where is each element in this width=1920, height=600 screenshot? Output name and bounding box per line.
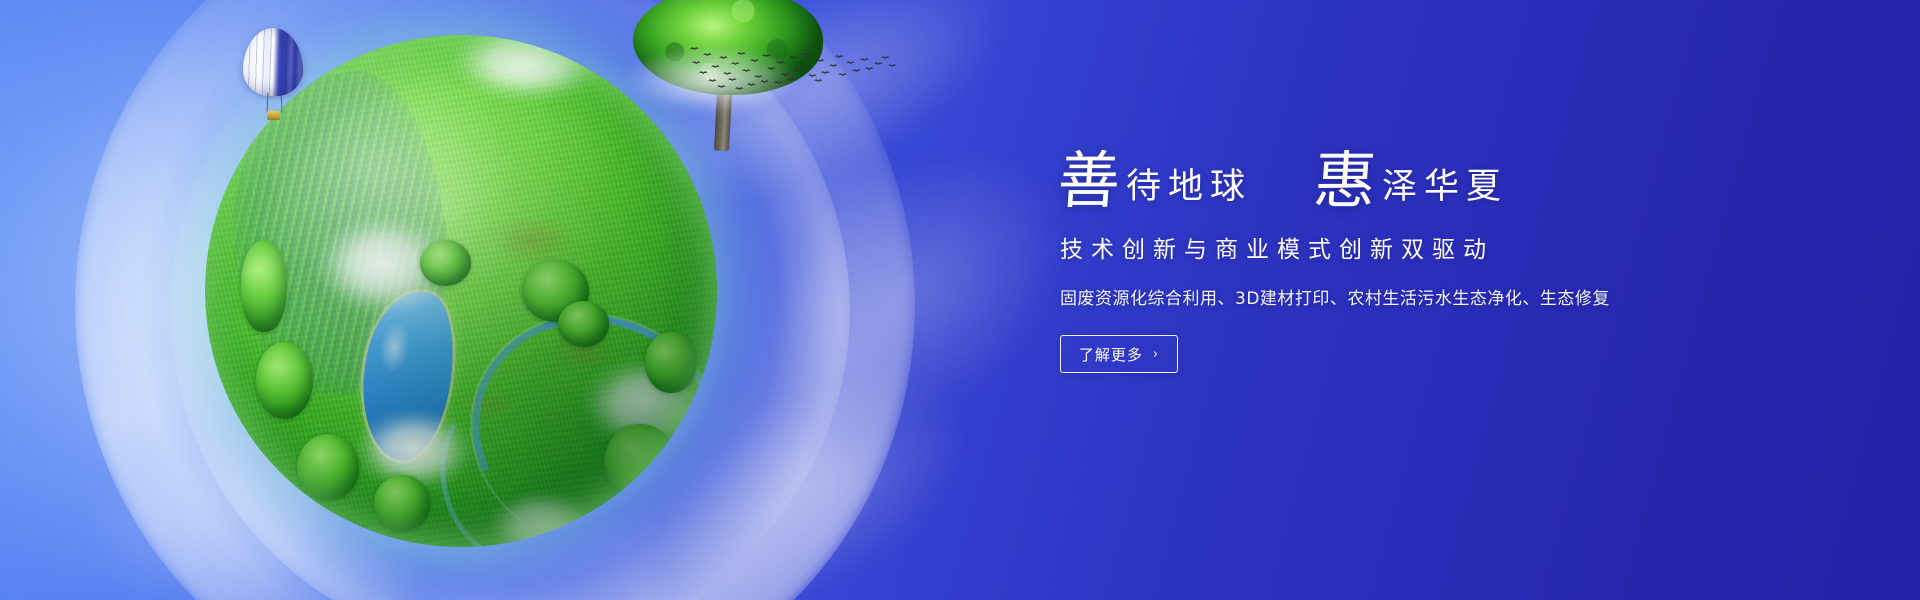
headline-rest-1: 待地球 [1120, 170, 1252, 205]
balloon-basket [267, 111, 280, 120]
hero-subtitle: 技术创新与商业模式创新双驱动 [1060, 230, 1818, 264]
page-title: 善 待地球 惠 泽华夏 [1058, 128, 1818, 208]
headline-lead-char-2: 惠 [1312, 150, 1378, 212]
balloon-ropes [266, 93, 282, 113]
headline-rest-2: 泽华夏 [1376, 170, 1508, 205]
hot-air-balloon-icon [243, 28, 309, 124]
headline-lead-char-1: 善 [1056, 150, 1122, 212]
learn-more-button[interactable]: 了解更多 › [1060, 335, 1178, 373]
chevron-right-icon: › [1153, 348, 1159, 361]
birds-flock-icon [690, 46, 905, 104]
hero-banner: 善 待地球 惠 泽华夏 技术创新与商业模式创新双驱动 固废资源化综合利用、3D建… [0, 0, 1920, 600]
hero-description: 固废资源化综合利用、3D建材打印、农村生活污水生态净化、生态修复 [1060, 284, 1818, 309]
hero-copy: 善 待地球 惠 泽华夏 技术创新与商业模式创新双驱动 固废资源化综合利用、3D建… [1058, 128, 1818, 373]
balloon-seams [243, 28, 303, 96]
learn-more-label: 了解更多 [1079, 344, 1143, 365]
